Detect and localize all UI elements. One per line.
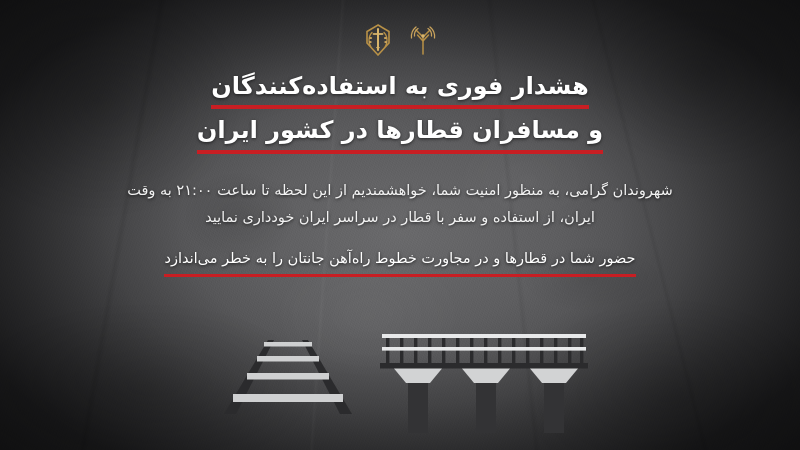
warning-block: حضور شما در قطارها و در مجاورت خطوط راه‌…	[0, 248, 800, 277]
body-text: شهروندان گرامی، به منظور امنیت شما، خواه…	[0, 178, 800, 277]
headline-line-2: و مسافران قطارها در کشور ایران	[197, 116, 603, 153]
body-line-1: شهروندان گرامی، به منظور امنیت شما، خواه…	[0, 178, 800, 205]
body-line-2: ایران، از استفاده و سفر با قطار در سراسر…	[0, 205, 800, 232]
headline-line-1: هشدار فوری به استفاده‌کنندگان	[211, 72, 588, 109]
railway-viaduct-bridge-icon	[378, 330, 590, 442]
perspective-railway-track-icon	[214, 340, 362, 418]
warning-text: حضور شما در قطارها و در مجاورت خطوط راه‌…	[164, 248, 635, 277]
idf-sword-olive-branch-emblem	[362, 23, 394, 57]
broadcast-antenna-emblem	[408, 24, 438, 56]
emblem-row	[0, 20, 800, 60]
warning-poster: هشدار فوری به استفاده‌کنندگان و مسافران …	[0, 0, 800, 450]
headline: هشدار فوری به استفاده‌کنندگان و مسافران …	[0, 72, 800, 161]
graphics-area	[0, 290, 800, 450]
